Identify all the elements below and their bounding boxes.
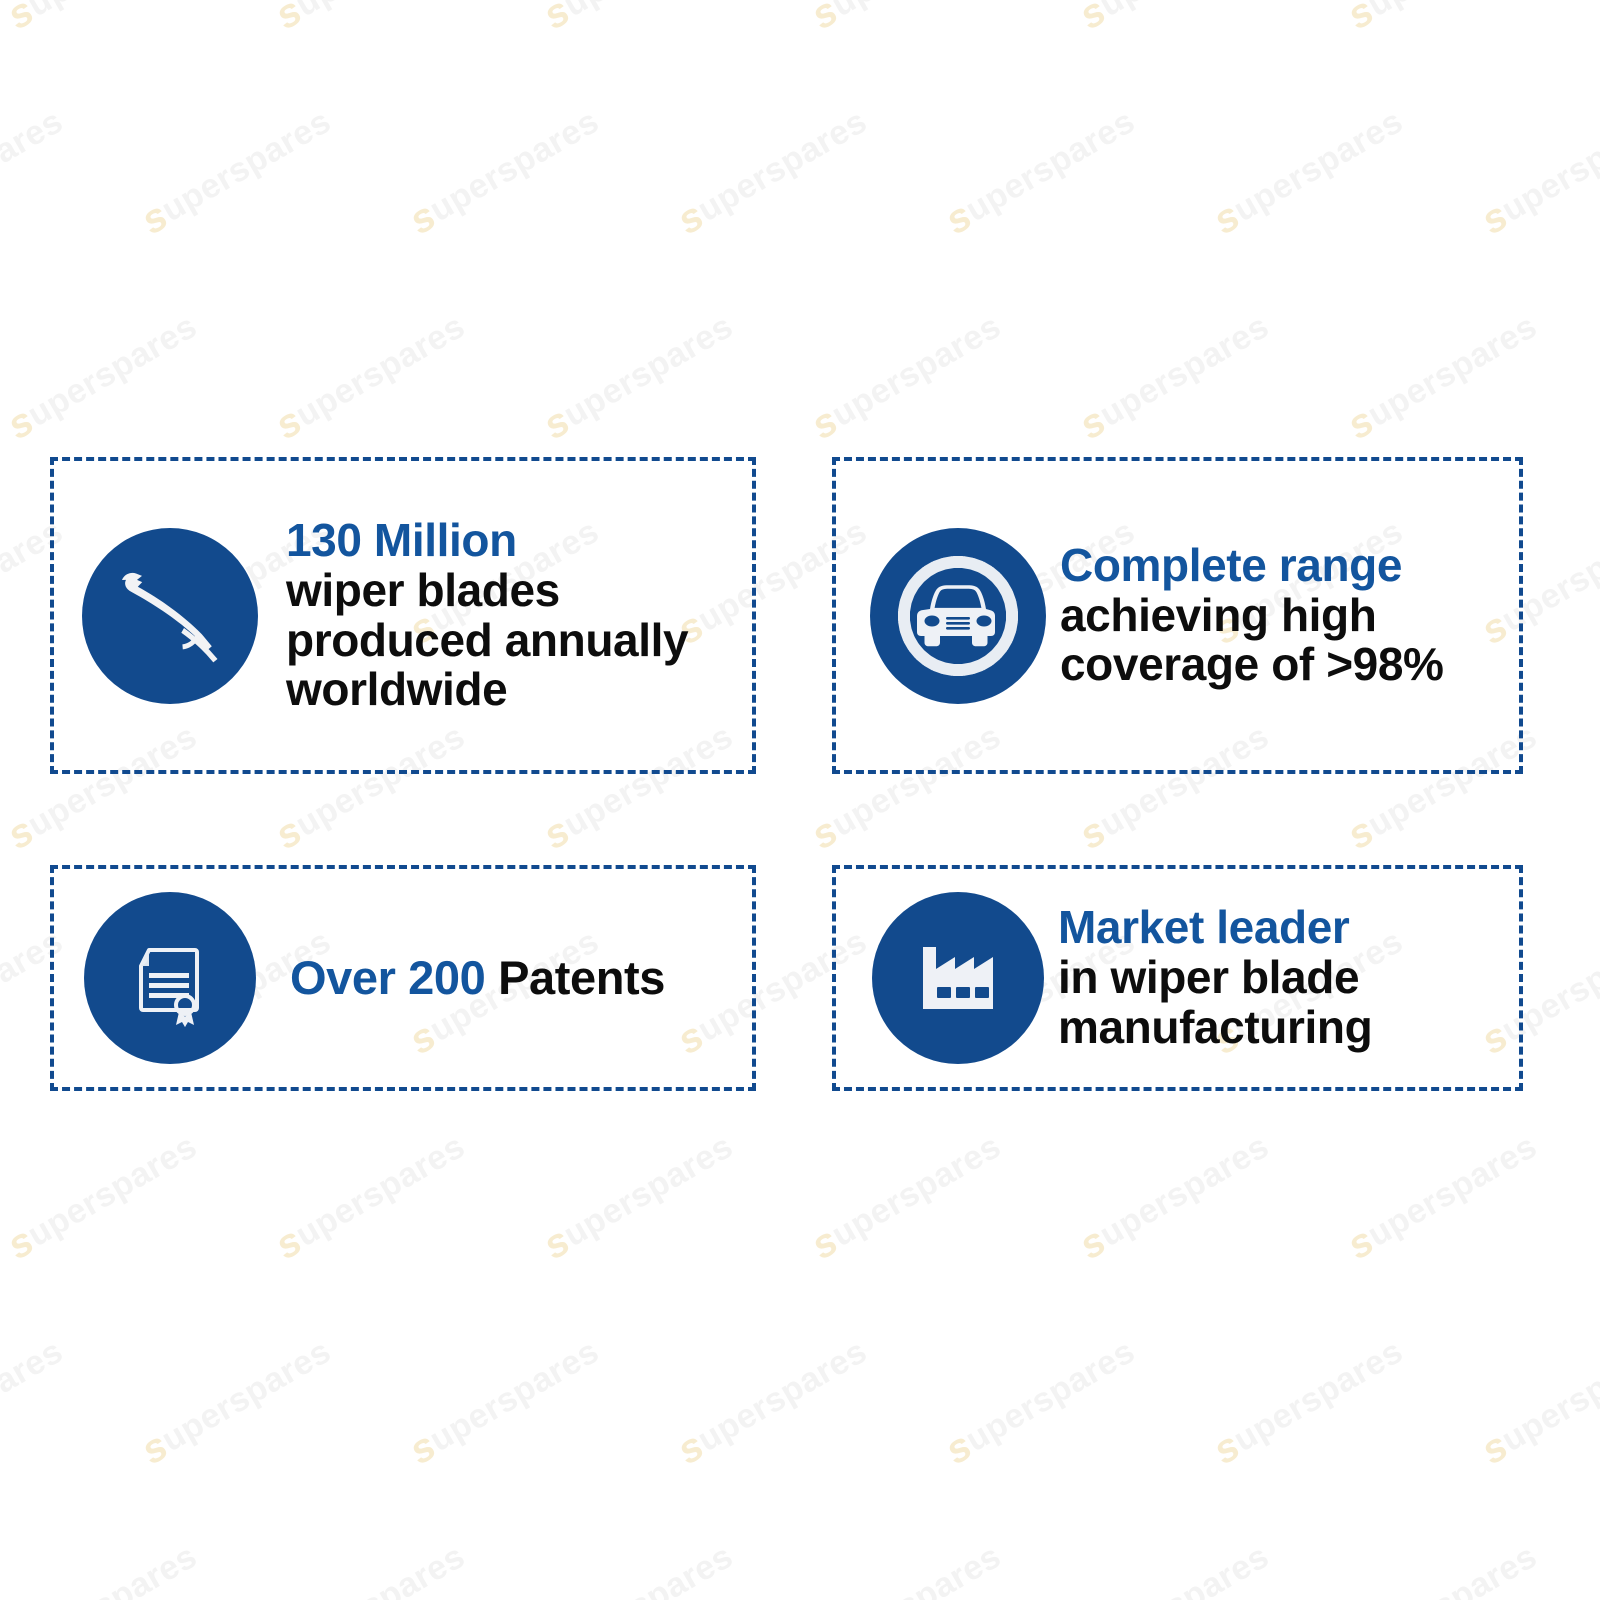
icon-wrap (54, 528, 286, 704)
card-inline-black: Patents (485, 951, 665, 1004)
feature-card-patents: Over 200 Patents (50, 865, 756, 1091)
card-text: Complete range achieving high coverage o… (1060, 541, 1519, 690)
icon-wrap (842, 892, 1074, 1064)
card-line-4: worldwide (286, 665, 752, 715)
card-line-2: in wiper blade (1058, 953, 1519, 1003)
card-inline-blue: Over 200 (290, 951, 485, 1004)
feature-card-complete-range-coverage: Complete range achieving high coverage o… (832, 457, 1523, 774)
card-line-headline: Complete range (1060, 541, 1519, 591)
card-line-2: wiper blades (286, 566, 752, 616)
patent-certificate-icon (84, 892, 256, 1064)
card-line-headline: 130 Million (286, 516, 752, 566)
card-line-2: achieving high (1060, 591, 1519, 641)
card-line-3: produced annually (286, 616, 752, 666)
card-line-3: coverage of >98% (1060, 640, 1519, 690)
feature-card-market-leader-manufacturing: Market leader in wiper blade manufacturi… (832, 865, 1523, 1091)
feature-card-wiper-blades-produced: 130 Million wiper blades produced annual… (50, 457, 756, 774)
feature-card-grid: 130 Million wiper blades produced annual… (0, 0, 1600, 1600)
card-text: Market leader in wiper blade manufacturi… (1058, 903, 1519, 1052)
card-text: 130 Million wiper blades produced annual… (286, 516, 752, 715)
card-text: Over 200 Patents (290, 953, 752, 1004)
card-line-headline: Market leader (1058, 903, 1519, 953)
icon-wrap (54, 892, 286, 1064)
wiper-blade-icon (82, 528, 258, 704)
factory-icon (872, 892, 1044, 1064)
car-in-dashed-circle-icon (870, 528, 1046, 704)
card-line-3: manufacturing (1058, 1003, 1519, 1053)
icon-wrap (842, 528, 1074, 704)
